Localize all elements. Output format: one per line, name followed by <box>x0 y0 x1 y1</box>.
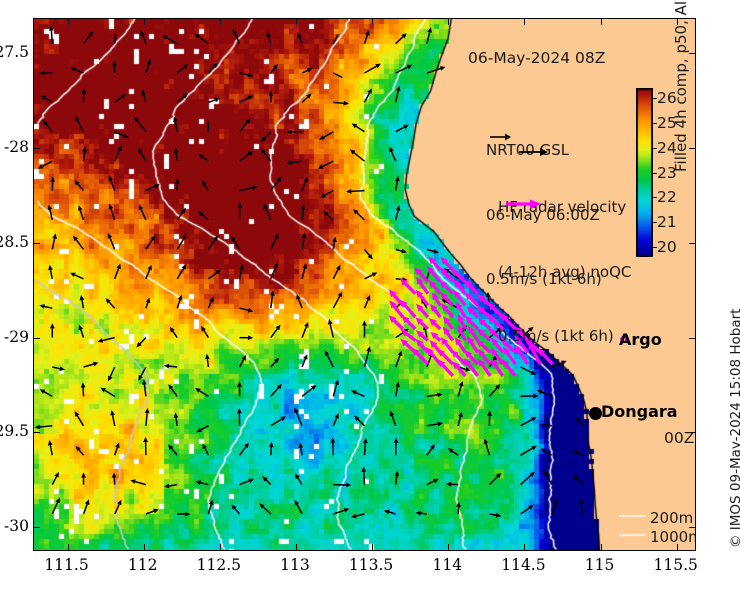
x-tick-top <box>524 18 525 25</box>
x-tick-top <box>372 18 373 25</box>
y-tick-label: -29.5 <box>0 422 29 440</box>
colorbar <box>636 88 653 257</box>
title-date: 06-May-2024 08Z <box>468 49 605 67</box>
bathymetry-label-1000m: 1000m <box>650 528 696 546</box>
colorbar-tick-label: 20 <box>657 238 677 256</box>
x-tick <box>677 544 678 551</box>
x-tick <box>372 544 373 551</box>
x-tick <box>448 544 449 551</box>
colorbar-tick-label: 26 <box>657 89 677 107</box>
bathymetry-label-200m: 200m <box>650 509 693 527</box>
y-tick-label: -28 <box>4 138 29 156</box>
figure-root: 06-May-2024 08Z NRT00 GSL 06-May 06:00Z … <box>0 0 740 592</box>
colorbar-tick-label: 21 <box>657 213 677 231</box>
y-tick <box>33 243 40 244</box>
x-tick <box>144 544 145 551</box>
y-tick <box>33 148 40 149</box>
x-tick <box>68 544 69 551</box>
argo-legend-label: Argo <box>619 330 662 349</box>
x-tick-top <box>68 18 69 25</box>
x-tick-label: 114 <box>432 556 462 574</box>
credit-text: © IMOS 09-May-2024 15:08 Hobart <box>728 309 740 548</box>
x-tick-label: 115 <box>585 556 615 574</box>
legend-radar: HF radar velocity (4-12h avg) noQC 0.5m/… <box>498 154 631 391</box>
x-tick-top <box>296 18 297 25</box>
dongara-label: Dongara <box>601 402 678 421</box>
colorbar-tick-label: 24 <box>657 139 677 157</box>
x-tick-label: 115.5 <box>654 556 698 574</box>
x-tick-label: 111.5 <box>44 556 88 574</box>
x-tick-label: 112 <box>128 556 158 574</box>
y-tick-right <box>689 527 696 528</box>
x-tick-label: 113 <box>280 556 310 574</box>
colorbar-tick-label: 22 <box>657 188 677 206</box>
y-tick-label: -28.5 <box>0 233 29 251</box>
y-tick <box>33 53 40 54</box>
x-tick <box>524 544 525 551</box>
x-tick-top <box>448 18 449 25</box>
x-tick-label: 114.5 <box>501 556 545 574</box>
y-tick <box>33 338 40 339</box>
legend-radar-line3: 0.5m/s (1kt 6h) <box>498 326 631 348</box>
legend-radar-line2: (4-12h avg) noQC <box>498 262 631 284</box>
x-tick-top <box>601 18 602 25</box>
y-tick-right <box>689 53 696 54</box>
y-tick-right <box>689 338 696 339</box>
y-tick-label: -29 <box>4 328 29 346</box>
x-tick <box>220 544 221 551</box>
y-tick <box>33 527 40 528</box>
stray-axis-label: 00Z <box>664 429 694 447</box>
y-tick-label: -27.5 <box>0 43 29 61</box>
x-tick-label: 113.5 <box>349 556 393 574</box>
y-tick-label: -30 <box>4 517 29 535</box>
y-tick-right <box>689 148 696 149</box>
x-tick-label: 112.5 <box>197 556 241 574</box>
x-tick <box>601 544 602 551</box>
radar-ref-arrow <box>505 198 541 210</box>
colorbar-gradient <box>636 88 653 257</box>
y-tick-right <box>689 243 696 244</box>
map-axes[interactable]: 06-May-2024 08Z NRT00 GSL 06-May 06:00Z … <box>33 18 696 551</box>
x-tick-top <box>144 18 145 25</box>
colorbar-tick-label: 23 <box>657 164 677 182</box>
x-tick <box>296 544 297 551</box>
x-tick-top <box>220 18 221 25</box>
y-tick <box>33 432 40 433</box>
colorbar-tick-label: 25 <box>657 114 677 132</box>
